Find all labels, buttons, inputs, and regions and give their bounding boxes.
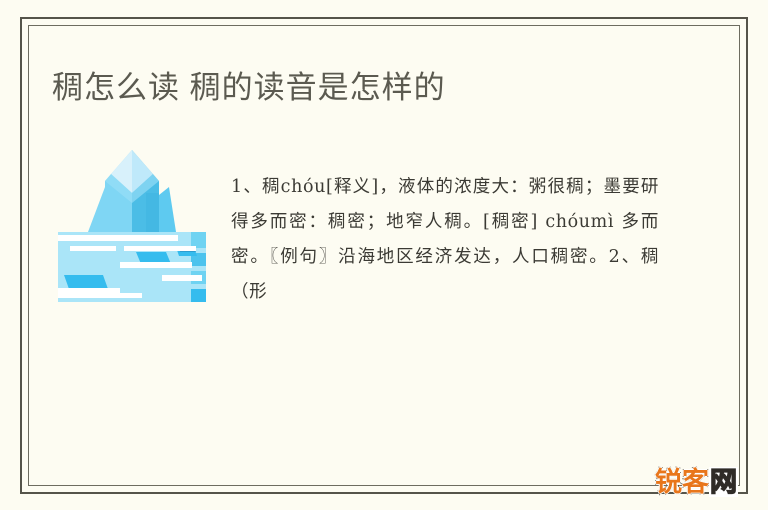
page-title: 稠怎么读 稠的读音是怎样的	[52, 68, 712, 108]
article-body: 1、稠chóu[释义]，液体的浓度大：粥很稠；墨要研得多而密：稠密；地窄人稠。[…	[231, 170, 659, 310]
iceberg-illustration	[58, 147, 206, 303]
article-page: 稠怎么读 稠的读音是怎样的	[0, 0, 768, 510]
watermark-text-secondary: 网	[709, 467, 738, 497]
watermark-text-primary: 锐客	[655, 467, 709, 497]
site-watermark: 锐客网	[655, 466, 738, 498]
